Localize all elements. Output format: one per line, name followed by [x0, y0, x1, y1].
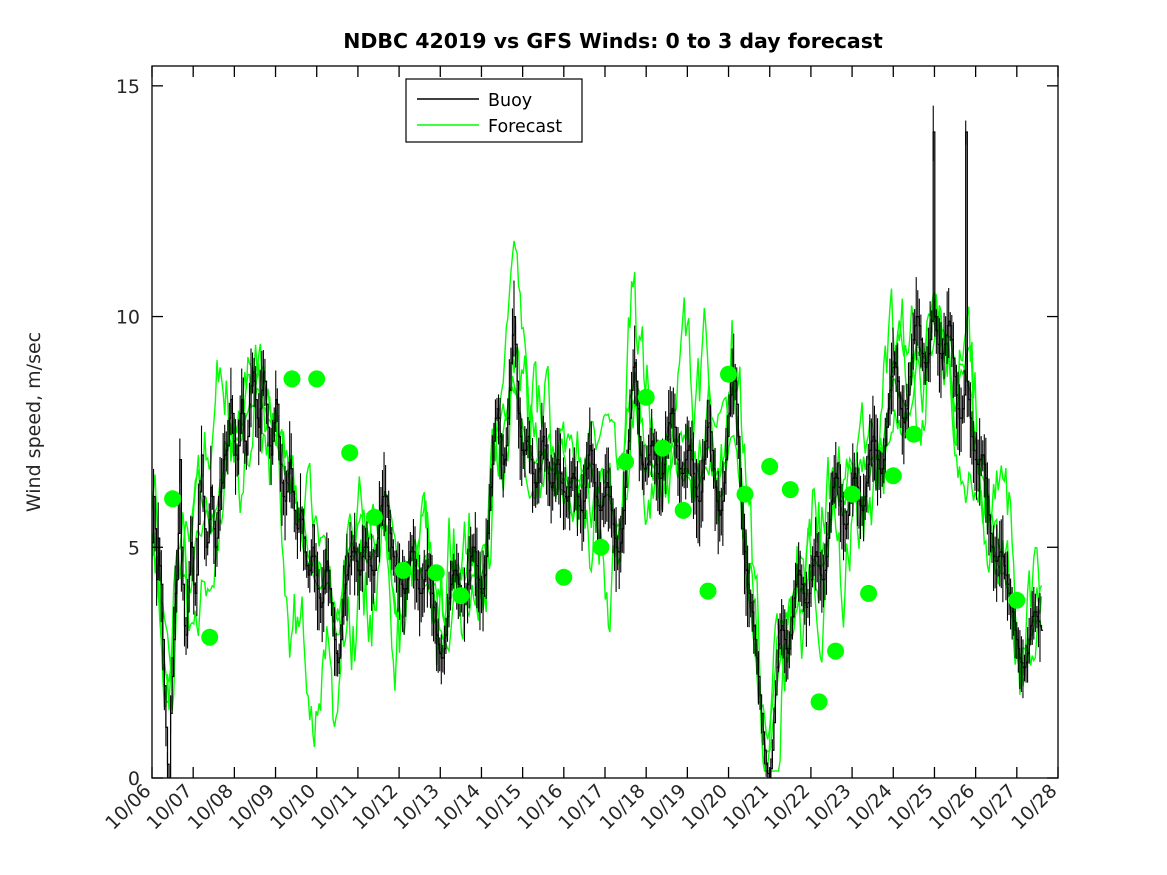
forecast-marker-point [737, 486, 754, 503]
chart-title: NDBC 42019 vs GFS Winds: 0 to 3 day fore… [343, 29, 883, 53]
forecast-marker-point [885, 467, 902, 484]
legend-label-buoy: Buoy [488, 91, 532, 111]
y-tick-label: 5 [128, 537, 140, 559]
chart-figure: NDBC 42019 vs GFS Winds: 0 to 3 day fore… [0, 0, 1167, 875]
x-tick-label: 10/14 [431, 780, 485, 834]
forecast-marker-point [761, 458, 778, 475]
x-tick-label: 10/26 [925, 780, 979, 834]
x-tick-label: 10/24 [843, 780, 897, 834]
forecast-marker-point [452, 587, 469, 604]
x-tick-label: 10/28 [1007, 780, 1061, 834]
forecast-marker-point [811, 693, 828, 710]
forecast-marker-point [395, 562, 412, 579]
forecast-marker-point [654, 440, 671, 457]
x-tick-label: 10/27 [966, 780, 1020, 834]
forecast-marker-point [905, 426, 922, 443]
x-tick-label: 10/10 [266, 780, 320, 834]
forecast-marker-point [827, 643, 844, 660]
forecast-marker-point [284, 370, 301, 387]
x-tick-label: 10/12 [348, 780, 402, 834]
forecast-marker-point [860, 585, 877, 602]
x-tick-label: 10/09 [225, 780, 279, 834]
forecast-marker-point [720, 366, 737, 383]
forecast-marker-point [675, 502, 692, 519]
forecast-marker-point [638, 389, 655, 406]
forecast-marker-point [308, 370, 325, 387]
forecast-marker-point [844, 486, 861, 503]
y-tick-label: 10 [116, 307, 140, 329]
forecast-marker-point [428, 564, 445, 581]
wind-speed-chart: NDBC 42019 vs GFS Winds: 0 to 3 day fore… [0, 0, 1167, 875]
forecast-marker-point [201, 629, 218, 646]
x-tick-label: 10/11 [307, 780, 361, 834]
forecast-marker-point [164, 490, 181, 507]
y-axis-label: Wind speed, m/sec [23, 332, 45, 512]
x-tick-label: 10/15 [472, 780, 526, 834]
forecast-marker-point [782, 481, 799, 498]
x-tick-label: 10/18 [595, 780, 649, 834]
x-tick-label: 10/13 [390, 780, 444, 834]
forecast-marker-point [366, 509, 383, 526]
x-tick-label: 10/25 [884, 780, 938, 834]
legend-label-forecast: Forecast [488, 117, 562, 137]
x-tick-label: 10/20 [678, 780, 732, 834]
forecast-marker-point [341, 444, 358, 461]
x-tick-label: 10/21 [719, 780, 773, 834]
x-tick-label: 10/07 [142, 780, 196, 834]
forecast-marker-point [1008, 592, 1025, 609]
forecast-marker-point [555, 569, 572, 586]
forecast-marker-point [617, 453, 634, 470]
x-tick-label: 10/16 [513, 780, 567, 834]
x-tick-label: 10/19 [637, 780, 691, 834]
y-tick-label: 15 [116, 76, 140, 98]
legend: Buoy Forecast [406, 79, 582, 142]
x-tick-label: 10/22 [760, 780, 814, 834]
plot-area [152, 106, 1043, 778]
forecast-marker-point [700, 583, 717, 600]
x-tick-label: 10/23 [801, 780, 855, 834]
x-tick-label: 10/17 [554, 780, 608, 834]
x-tick-label: 10/08 [184, 780, 238, 834]
forecast-marker-point [592, 539, 609, 556]
